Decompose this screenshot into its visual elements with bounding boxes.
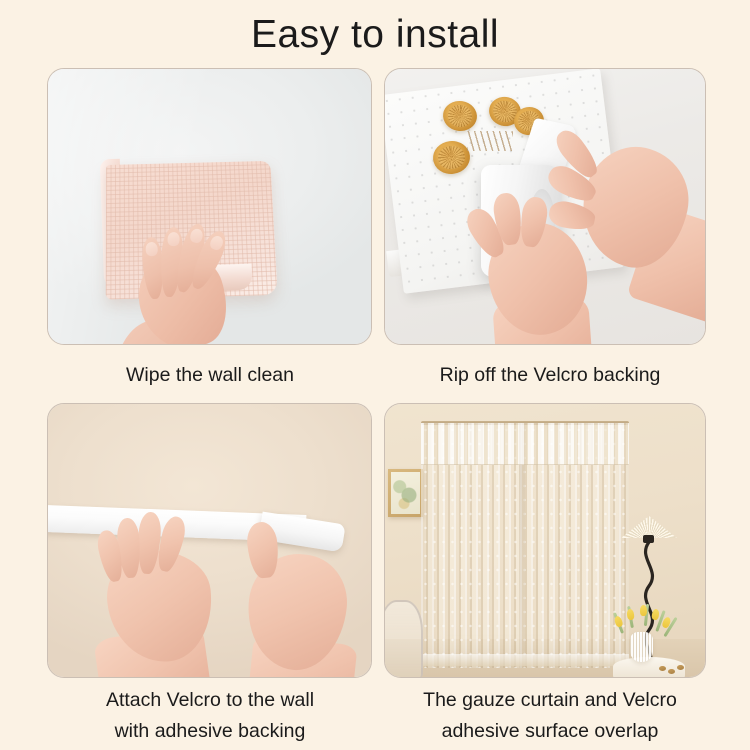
white-ribbed-vase — [630, 632, 653, 662]
promo-page: Easy to install Wipe the wall clean — [0, 0, 750, 750]
step-4-caption-line-2: adhesive surface overlap — [360, 716, 740, 747]
step-3-caption-line-2: with adhesive backing — [20, 716, 400, 747]
scene-wipe-wall — [48, 69, 371, 344]
hand — [114, 209, 240, 345]
tulip-flower — [613, 615, 623, 628]
fingernail — [167, 232, 180, 247]
decor-nut — [677, 665, 684, 670]
step-1-caption: Wipe the wall clean — [20, 360, 400, 391]
step-3-caption-line-1: Attach Velcro to the wall — [20, 685, 400, 716]
left-hand — [461, 197, 611, 345]
curtain-hem — [421, 654, 629, 666]
step-4-caption: The gauze curtain and Velcro adhesive su… — [360, 685, 740, 747]
decor-nut — [659, 666, 666, 671]
left-hand — [92, 514, 236, 678]
tulip-flower — [626, 609, 634, 621]
fingernail — [189, 227, 204, 243]
framed-botanical-picture — [388, 469, 423, 517]
right-hand — [226, 520, 358, 678]
scene-attach-velcro — [48, 404, 371, 677]
step-3-caption: Attach Velcro to the wall with adhesive … — [20, 685, 400, 747]
dried-twig — [467, 131, 513, 151]
picture-artwork — [391, 472, 420, 514]
page-title: Easy to install — [0, 12, 750, 58]
step-1-photo — [47, 68, 372, 345]
tulip-flower — [640, 605, 647, 616]
step-4-caption-line-1: The gauze curtain and Velcro — [360, 685, 740, 716]
step-2-photo — [384, 68, 706, 345]
scene-peel-velcro — [385, 69, 705, 344]
scene-gauze-curtain-room — [385, 404, 705, 677]
decor-nut — [668, 669, 675, 674]
fingernail — [145, 242, 158, 257]
curtain-valance — [421, 423, 629, 465]
chair-back — [384, 600, 423, 678]
step-2-caption: Rip off the Velcro backing — [360, 360, 740, 391]
fingernail — [208, 234, 225, 252]
step-4-photo — [384, 403, 706, 678]
step-3-photo — [47, 403, 372, 678]
side-table — [613, 657, 685, 678]
